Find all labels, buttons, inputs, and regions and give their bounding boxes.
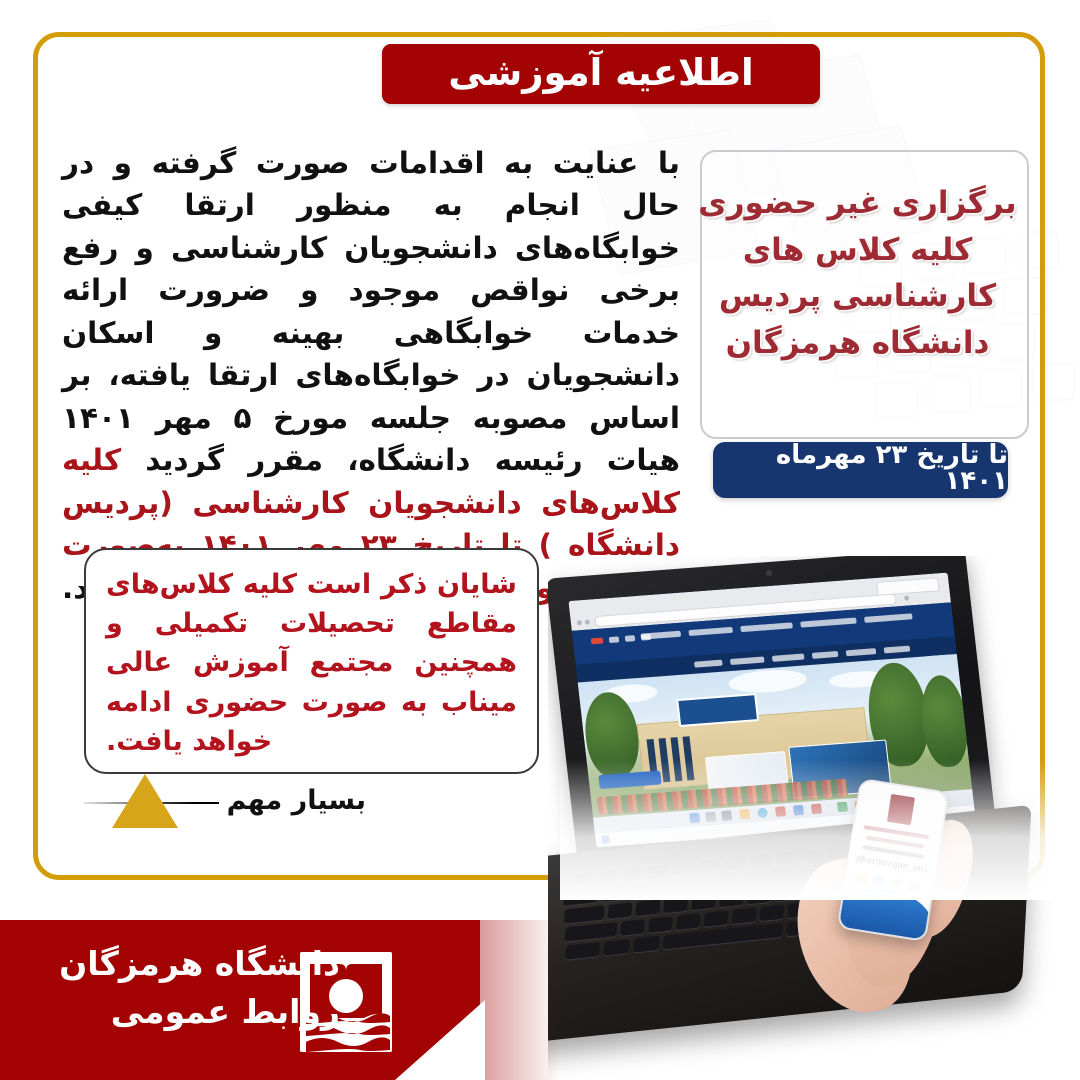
important-note-row: بسیار مهم [84, 776, 374, 828]
taskbar-icon[interactable] [721, 810, 732, 821]
status-icon [601, 835, 610, 844]
browser-forward-icon[interactable] [585, 619, 591, 624]
laptop-photo: @hormozgan_uni [548, 556, 1080, 1080]
callout-box: شایان ذکر است کلیه کلاس‌های مقاطع تحصیلا… [84, 548, 539, 774]
site-alert-icon[interactable] [591, 638, 604, 645]
footer-department-name: روابط عمومی [40, 988, 340, 1036]
footer-notch [395, 1000, 485, 1080]
header-banner: اطلاعیه آموزشی [382, 44, 820, 104]
taskbar-icon[interactable] [837, 802, 848, 813]
important-note-label: بسیار مهم [219, 776, 374, 826]
site-nav-item[interactable] [740, 622, 793, 632]
taskbar-search-icon[interactable] [705, 811, 716, 822]
deadline-badge-label: تا تاریخ ۲۳ مهرماه ۱۴۰۱ [713, 442, 1008, 494]
phone-logo-icon [887, 794, 915, 825]
taskbar-icon[interactable] [811, 804, 822, 815]
browser-menu-icon[interactable] [904, 595, 910, 600]
site-subnav-item[interactable] [884, 646, 911, 654]
headline-line-1: برگزاری غیر حضوری [690, 180, 1025, 227]
headline-line-2: کلیه کلاس های [690, 227, 1025, 274]
headline-block: برگزاری غیر حضوری کلیه کلاس های کارشناسی… [690, 180, 1025, 366]
footer-university-name: دانشگاه هرمزگان [40, 940, 340, 988]
site-subnav-item[interactable] [812, 651, 839, 659]
announcement-body: با عنایت به اقدامات صورت گرفته و در حال … [62, 142, 680, 609]
browser-back-icon[interactable] [577, 620, 583, 625]
home-icon[interactable] [641, 634, 652, 641]
mail-icon[interactable] [625, 635, 636, 642]
site-nav-item[interactable] [800, 617, 857, 627]
page-title: اطلاعیه آموزشی [448, 54, 753, 91]
taskbar-icon[interactable] [793, 805, 804, 816]
footer-text: دانشگاه هرمزگان روابط عمومی [40, 940, 340, 1036]
site-subnav-item[interactable] [846, 648, 877, 656]
site-subnav-item[interactable] [730, 656, 765, 665]
headline-line-3: کارشناسی پردیس [690, 273, 1025, 320]
headline-line-4: دانشگاه هرمزگان [690, 320, 1025, 367]
site-nav-item[interactable] [688, 627, 733, 636]
body-paragraph-part1: با عنایت به اقدامات صورت گرفته و در حال … [62, 146, 680, 477]
phone-icon[interactable] [609, 636, 620, 643]
taskbar-browser-icon[interactable] [757, 808, 768, 819]
site-nav-item[interactable] [864, 613, 913, 623]
site-subnav-item[interactable] [694, 660, 723, 668]
taskbar-folder-icon[interactable] [739, 809, 750, 820]
browser-tab[interactable] [876, 577, 939, 596]
taskbar-icon[interactable] [689, 813, 700, 824]
deadline-badge: تا تاریخ ۲۳ مهرماه ۱۴۰۱ [713, 442, 1008, 498]
site-subnav-item[interactable] [772, 653, 805, 661]
callout-text: شایان ذکر است کلیه کلاس‌های مقاطع تحصیلا… [86, 561, 537, 761]
warning-triangle-icon [112, 774, 178, 828]
poster-root: اطلاعیه آموزشی با عنایت به اقدامات صورت … [0, 0, 1080, 1080]
taskbar-icon[interactable] [775, 806, 786, 817]
campus-sign [676, 693, 759, 727]
